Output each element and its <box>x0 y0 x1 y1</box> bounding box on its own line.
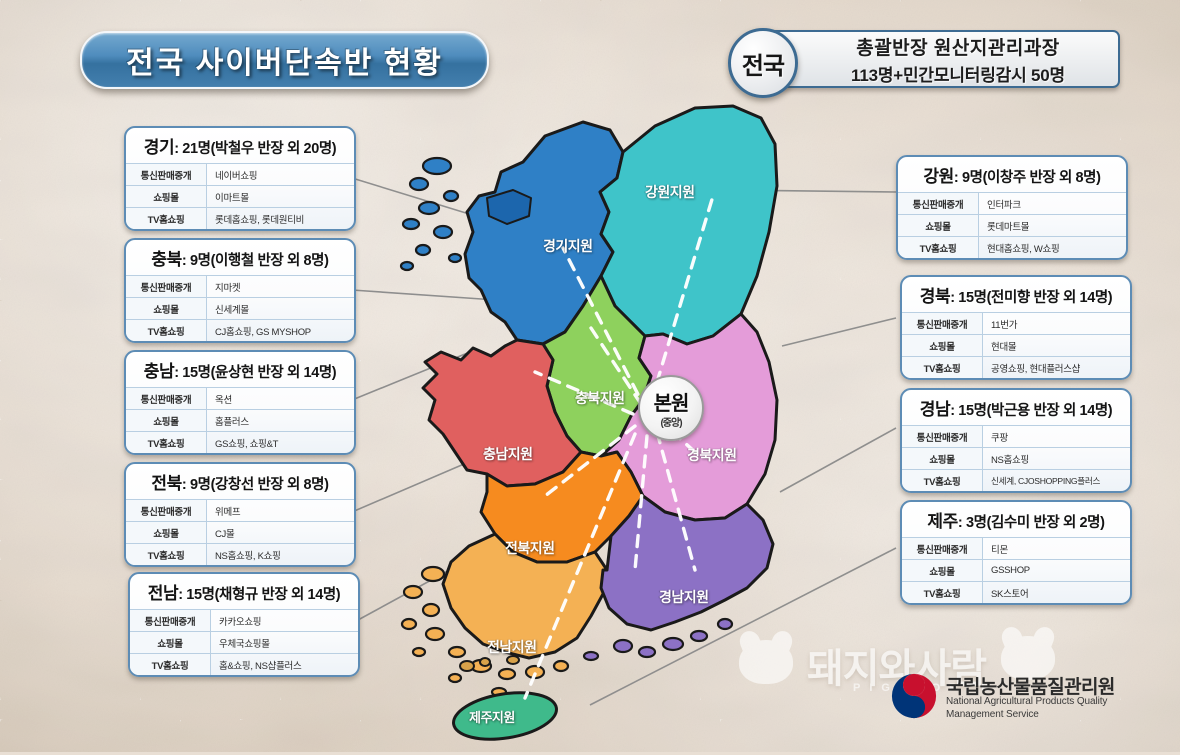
row-key: 통신판매중개 <box>902 426 983 448</box>
table-row: 쇼핑몰CJ몰 <box>126 522 354 544</box>
card-detail-chungnam: : 15명(윤상현 반장 외 14명) <box>174 365 336 381</box>
logo-english-line2: Management Service <box>946 709 1039 720</box>
card-detail-jeonnam: : 15명(채형규 반장 외 14명) <box>178 587 340 603</box>
card-table-jeju: 통신판매중개티몬 쇼핑몰GSSHOP TV홈쇼핑SK스토어 <box>902 537 1130 603</box>
row-value: 인터파크 <box>979 193 1127 215</box>
card-region-gangwon: 강원 <box>923 167 953 186</box>
national-badge: 전국 <box>728 28 798 98</box>
card-region-gyeongnam: 경남 <box>920 400 950 419</box>
card-gyeongnam[interactable]: 경남: 15명(박근용 반장 외 14명) 통신판매중개쿠팡 쇼핑몰NS홈쇼핑 … <box>900 388 1132 493</box>
card-table-gyeongnam: 통신판매중개쿠팡 쇼핑몰NS홈쇼핑 TV홈쇼핑신세계, CJOSHOPPING플… <box>902 425 1130 491</box>
map-label-gyeongnam: 경남지원 <box>659 587 709 607</box>
row-value: 롯데홈쇼핑, 롯데원티비 <box>207 208 355 230</box>
row-value: 네이버쇼핑 <box>207 164 355 186</box>
row-key: TV홈쇼핑 <box>130 654 211 676</box>
table-row: 쇼핑몰이마트몰 <box>126 186 354 208</box>
row-key: 통신판매중개 <box>126 276 207 298</box>
map-label-gangwon: 강원지원 <box>645 182 695 202</box>
card-jeju[interactable]: 제주: 3명(김수미 반장 외 2명) 통신판매중개티몬 쇼핑몰GSSHOP T… <box>900 500 1132 605</box>
row-value: 지마켓 <box>207 276 355 298</box>
card-chungbuk[interactable]: 충북: 9명(이행철 반장 외 8명) 통신판매중개지마켓 쇼핑몰신세계몰 TV… <box>124 238 356 343</box>
table-row: 통신판매중개11번가 <box>902 313 1130 335</box>
row-key: 통신판매중개 <box>898 193 979 215</box>
table-row: 쇼핑몰롯데마트몰 <box>898 215 1126 237</box>
row-value: 옥션 <box>207 388 355 410</box>
row-key: 쇼핑몰 <box>902 560 983 582</box>
card-table-gangwon: 통신판매중개인터파크 쇼핑몰롯데마트몰 TV홈쇼핑현대홈쇼핑, W쇼핑 <box>898 192 1126 258</box>
card-title-jeonbuk: 전북: 9명(강창선 반장 외 8명) <box>126 464 354 499</box>
card-table-gyeonggi: 통신판매중개네이버쇼핑 쇼핑몰이마트몰 TV홈쇼핑롯데홈쇼핑, 롯데원티비 <box>126 163 354 229</box>
row-key: 통신판매중개 <box>126 164 207 186</box>
map-label-gyeongbuk: 경북지원 <box>687 445 737 465</box>
row-key: TV홈쇼핑 <box>898 237 979 259</box>
card-detail-chungbuk: : 9명(이행철 반장 외 8명) <box>182 253 329 269</box>
table-row: 통신판매중개티몬 <box>902 538 1130 560</box>
row-key: 통신판매중개 <box>902 538 983 560</box>
table-row: 통신판매중개네이버쇼핑 <box>126 164 354 186</box>
card-region-chungbuk: 충북 <box>151 250 181 269</box>
card-detail-gangwon: : 9명(이창주 반장 외 8명) <box>954 170 1101 186</box>
row-value: 현대홈쇼핑, W쇼핑 <box>979 237 1127 259</box>
map-region-gangwon[interactable] <box>600 106 777 344</box>
table-row: 통신판매중개인터파크 <box>898 193 1126 215</box>
row-key: TV홈쇼핑 <box>126 432 207 454</box>
card-detail-gyeongbuk: : 15명(전미향 반장 외 14명) <box>950 290 1112 306</box>
card-jeonnam[interactable]: 전남: 15명(채형규 반장 외 14명) 통신판매중개카카오쇼핑 쇼핑몰우체국… <box>128 572 360 677</box>
row-value: SK스토어 <box>983 582 1131 604</box>
card-title-chungnam: 충남: 15명(윤상현 반장 외 14명) <box>126 352 354 387</box>
card-title-gyeongbuk: 경북: 15명(전미향 반장 외 14명) <box>902 277 1130 312</box>
card-region-chungnam: 충남 <box>144 362 174 381</box>
national-summary: 총괄반장 원산지관리과장 113명+민간모니터링감시 50명 전국 <box>728 28 1120 90</box>
page-title: 전국 사이버단속반 현황 <box>80 31 489 89</box>
table-row: 통신판매중개위메프 <box>126 500 354 522</box>
row-value: 쿠팡 <box>983 426 1131 448</box>
table-row: TV홈쇼핑SK스토어 <box>902 582 1130 604</box>
map-label-chungbuk: 충북지원 <box>575 388 625 408</box>
card-chungnam[interactable]: 충남: 15명(윤상현 반장 외 14명) 통신판매중개옥션 쇼핑몰홈플러스 T… <box>124 350 356 455</box>
card-region-jeonnam: 전남 <box>148 584 178 603</box>
row-key: TV홈쇼핑 <box>902 582 983 604</box>
row-value: GSSHOP <box>983 560 1131 582</box>
row-key: 통신판매중개 <box>130 610 211 632</box>
table-row: 통신판매중개지마켓 <box>126 276 354 298</box>
card-title-gyeonggi: 경기: 21명(박철우 반장 외 20명) <box>126 128 354 163</box>
row-value: NS홈쇼핑, K쇼핑 <box>207 544 355 566</box>
map-label-jeonbuk: 전북지원 <box>505 538 555 558</box>
table-row: TV홈쇼핑CJ홈쇼핑, GS MYSHOP <box>126 320 354 342</box>
row-key: TV홈쇼핑 <box>902 357 983 379</box>
card-detail-gyeonggi: : 21명(박철우 반장 외 20명) <box>174 141 336 157</box>
table-row: 통신판매중개옥션 <box>126 388 354 410</box>
table-row: TV홈쇼핑롯데홈쇼핑, 롯데원티비 <box>126 208 354 230</box>
map-label-jeonnam: 전남지원 <box>487 637 537 657</box>
row-value: 홈플러스 <box>207 410 355 432</box>
card-table-jeonbuk: 통신판매중개위메프 쇼핑몰CJ몰 TV홈쇼핑NS홈쇼핑, K쇼핑 <box>126 499 354 565</box>
row-value: CJ홈쇼핑, GS MYSHOP <box>207 320 355 342</box>
card-gyeonggi[interactable]: 경기: 21명(박철우 반장 외 20명) 통신판매중개네이버쇼핑 쇼핑몰이마트… <box>124 126 356 231</box>
card-region-gyeonggi: 경기 <box>144 138 174 157</box>
card-detail-jeju: : 3명(김수미 반장 외 2명) <box>958 515 1105 531</box>
row-key: TV홈쇼핑 <box>126 544 207 566</box>
row-key: 쇼핑몰 <box>898 215 979 237</box>
row-value: CJ몰 <box>207 522 355 544</box>
table-row: 쇼핑몰NS홈쇼핑 <box>902 448 1130 470</box>
row-value: 홈&쇼핑, NS샵플러스 <box>211 654 359 676</box>
card-table-gyeongbuk: 통신판매중개11번가 쇼핑몰현대몰 TV홈쇼핑공영쇼핑, 현대플러스샵 <box>902 312 1130 378</box>
national-summary-line1: 총괄반장 원산지관리과장 <box>856 33 1060 60</box>
national-summary-line2: 113명+민간모니터링감시 50명 <box>851 61 1065 86</box>
pig-head-left-icon <box>739 640 793 684</box>
row-value: 티몬 <box>983 538 1131 560</box>
row-key: 통신판매중개 <box>126 388 207 410</box>
card-region-jeonbuk: 전북 <box>151 474 181 493</box>
table-row: 쇼핑몰GSSHOP <box>902 560 1130 582</box>
row-key: 통신판매중개 <box>126 500 207 522</box>
taegeuk-icon <box>890 672 938 720</box>
row-value: 공영쇼핑, 현대플러스샵 <box>983 357 1131 379</box>
map-label-jeju: 제주지원 <box>469 707 515 726</box>
row-value: 우체국쇼핑몰 <box>211 632 359 654</box>
row-value: 카카오쇼핑 <box>211 610 359 632</box>
logo-english-line1: National Agricultural Products Quality <box>946 696 1107 707</box>
row-value: GS쇼핑, 쇼핑&T <box>207 432 355 454</box>
row-key: 통신판매중개 <box>902 313 983 335</box>
table-row: 쇼핑몰홈플러스 <box>126 410 354 432</box>
card-region-gyeongbuk: 경북 <box>920 287 950 306</box>
row-value: 롯데마트몰 <box>979 215 1127 237</box>
table-row: TV홈쇼핑공영쇼핑, 현대플러스샵 <box>902 357 1130 379</box>
row-value: 11번가 <box>983 313 1131 335</box>
headquarters-label: 본원 <box>654 387 689 416</box>
row-key: TV홈쇼핑 <box>126 320 207 342</box>
row-key: 쇼핑몰 <box>126 410 207 432</box>
card-gangwon[interactable]: 강원: 9명(이창주 반장 외 8명) 통신판매중개인터파크 쇼핑몰롯데마트몰 … <box>896 155 1128 260</box>
card-region-jeju: 제주 <box>927 512 957 531</box>
row-key: 쇼핑몰 <box>130 632 211 654</box>
card-table-chungbuk: 통신판매중개지마켓 쇼핑몰신세계몰 TV홈쇼핑CJ홈쇼핑, GS MYSHOP <box>126 275 354 341</box>
card-table-jeonnam: 통신판매중개카카오쇼핑 쇼핑몰우체국쇼핑몰 TV홈쇼핑홈&쇼핑, NS샵플러스 <box>130 609 358 675</box>
table-row: TV홈쇼핑GS쇼핑, 쇼핑&T <box>126 432 354 454</box>
table-row: TV홈쇼핑신세계, CJOSHOPPING플러스 <box>902 470 1130 492</box>
logo-korean-name: 국립농산물품질관리원 <box>946 672 1115 699</box>
card-title-jeonnam: 전남: 15명(채형규 반장 외 14명) <box>130 574 358 609</box>
row-value: 신세계, CJOSHOPPING플러스 <box>983 470 1131 492</box>
card-title-chungbuk: 충북: 9명(이행철 반장 외 8명) <box>126 240 354 275</box>
table-row: TV홈쇼핑현대홈쇼핑, W쇼핑 <box>898 237 1126 259</box>
headquarters-sublabel: (중앙) <box>660 414 681 429</box>
row-key: 쇼핑몰 <box>126 522 207 544</box>
organization-logo: 국립농산물품질관리원 National Agricultural Product… <box>890 670 1175 732</box>
row-key: 쇼핑몰 <box>126 298 207 320</box>
national-summary-box: 총괄반장 원산지관리과장 113명+민간모니터링감시 50명 <box>756 30 1120 88</box>
row-key: TV홈쇼핑 <box>126 208 207 230</box>
table-row: 쇼핑몰신세계몰 <box>126 298 354 320</box>
page-title-text: 전국 사이버단속반 현황 <box>126 38 443 82</box>
table-row: 쇼핑몰현대몰 <box>902 335 1130 357</box>
table-row: 통신판매중개카카오쇼핑 <box>130 610 358 632</box>
map-west-islands <box>401 158 461 270</box>
row-value: 이마트몰 <box>207 186 355 208</box>
row-key: 쇼핑몰 <box>902 335 983 357</box>
card-detail-jeonbuk: : 9명(강창선 반장 외 8명) <box>182 477 329 493</box>
row-key: 쇼핑몰 <box>126 186 207 208</box>
card-title-jeju: 제주: 3명(김수미 반장 외 2명) <box>902 502 1130 537</box>
row-value: 위메프 <box>207 500 355 522</box>
card-table-chungnam: 통신판매중개옥션 쇼핑몰홈플러스 TV홈쇼핑GS쇼핑, 쇼핑&T <box>126 387 354 453</box>
table-row: TV홈쇼핑NS홈쇼핑, K쇼핑 <box>126 544 354 566</box>
card-gyeongbuk[interactable]: 경북: 15명(전미향 반장 외 14명) 통신판매중개11번가 쇼핑몰현대몰 … <box>900 275 1132 380</box>
row-value: 신세계몰 <box>207 298 355 320</box>
table-row: 쇼핑몰우체국쇼핑몰 <box>130 632 358 654</box>
map-label-chungnam: 충남지원 <box>483 444 533 464</box>
card-title-gyeongnam: 경남: 15명(박근용 반장 외 14명) <box>902 390 1130 425</box>
map-label-gyeonggi: 경기지원 <box>543 236 593 256</box>
headquarters-badge[interactable]: 본원 (중앙) <box>638 375 704 441</box>
row-key: TV홈쇼핑 <box>902 470 983 492</box>
table-row: TV홈쇼핑홈&쇼핑, NS샵플러스 <box>130 654 358 676</box>
table-row: 통신판매중개쿠팡 <box>902 426 1130 448</box>
row-value: 현대몰 <box>983 335 1131 357</box>
card-detail-gyeongnam: : 15명(박근용 반장 외 14명) <box>950 403 1112 419</box>
row-value: NS홈쇼핑 <box>983 448 1131 470</box>
row-key: 쇼핑몰 <box>902 448 983 470</box>
card-jeonbuk[interactable]: 전북: 9명(강창선 반장 외 8명) 통신판매중개위메프 쇼핑몰CJ몰 TV홈… <box>124 462 356 567</box>
national-badge-label: 전국 <box>742 46 784 81</box>
card-title-gangwon: 강원: 9명(이창주 반장 외 8명) <box>898 157 1126 192</box>
